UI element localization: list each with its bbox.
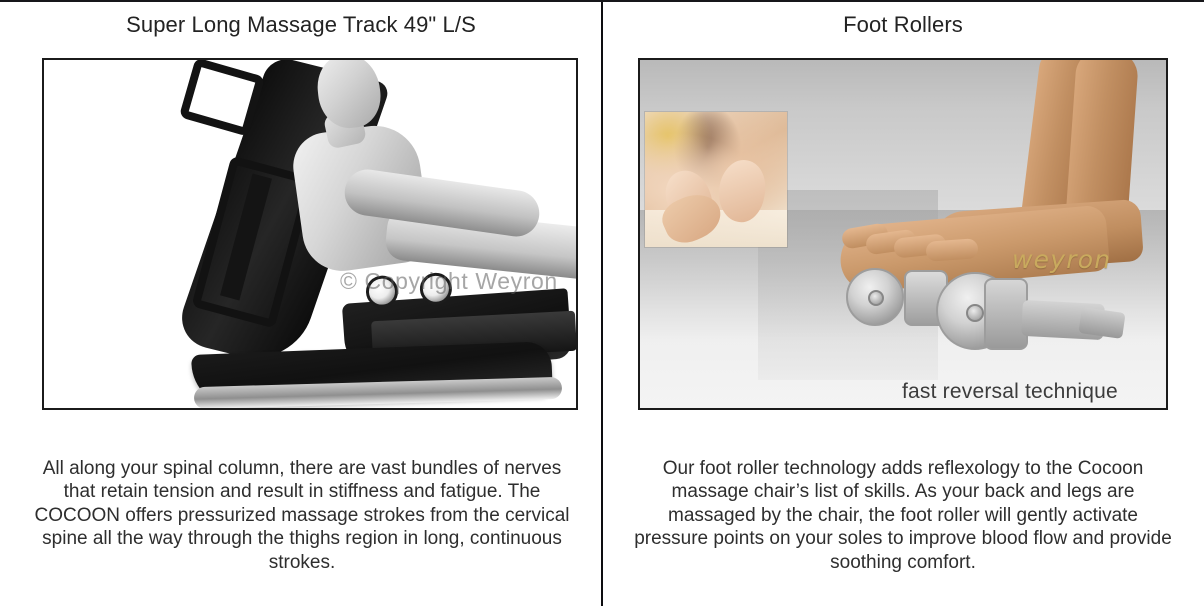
caption-massage-track: All along your spinal column, there are … xyxy=(28,457,576,574)
overlay-caption-fast-reversal: fast reversal technique xyxy=(902,380,1118,404)
copyright-watermark: © Copyright Weyron xyxy=(340,268,558,295)
roller-hub-icon xyxy=(966,304,984,322)
page-title-foot-rollers: Foot Rollers xyxy=(602,2,1204,48)
caption-foot-rollers: Our foot roller technology adds reflexol… xyxy=(632,457,1174,574)
two-panel-feature-layout: Super Long Massage Track 49" L/S xyxy=(0,0,1204,604)
reflexology-foot-massage-inset xyxy=(645,112,787,247)
massage-chair-side-view: © Copyright Weyron xyxy=(44,60,576,408)
weyron-brand-logo: weyron xyxy=(1012,245,1111,274)
foot-rollers-image-frame: weyron fast reversal technique xyxy=(638,58,1168,410)
foot-rollers-photo: weyron fast reversal technique xyxy=(640,60,1166,408)
roller-hub-icon xyxy=(868,290,884,306)
massage-chair-image-frame: © Copyright Weyron xyxy=(42,58,578,410)
panel-divider xyxy=(601,2,603,606)
panel-foot-rollers: Foot Rollers xyxy=(602,2,1204,604)
page-title-massage-track: Super Long Massage Track 49" L/S xyxy=(0,2,602,48)
panel-massage-track: Super Long Massage Track 49" L/S xyxy=(0,2,602,604)
